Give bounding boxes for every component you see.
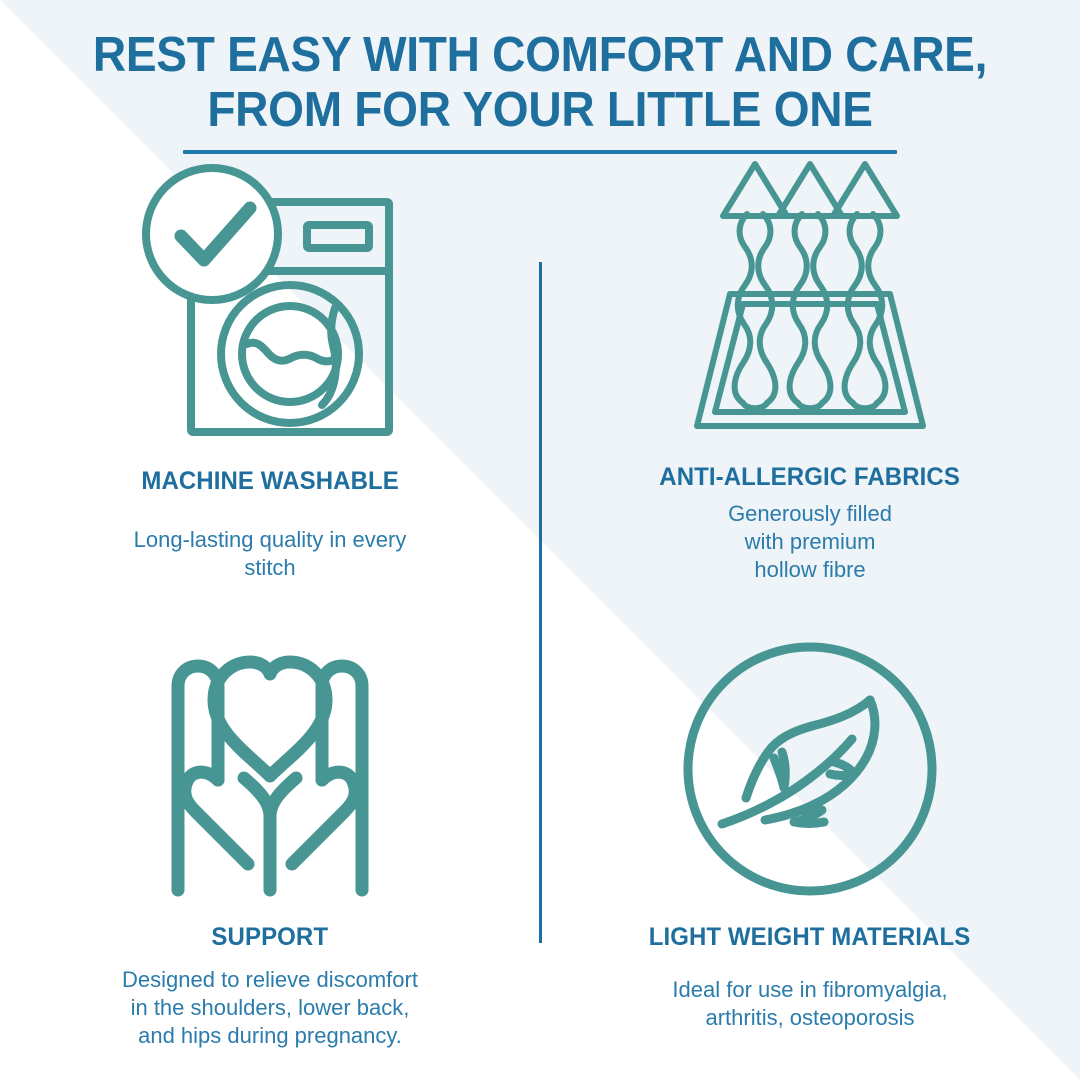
hands-holding-heart-icon (140, 628, 400, 900)
card-title-light-weight-materials: LIGHT WEIGHT MATERIALS (649, 924, 971, 952)
breathable-fabric-arrows-icon (685, 158, 935, 448)
feature-card-support: SUPPORT Designed to relieve discomfort i… (0, 628, 540, 1068)
feature-card-light-weight-materials: LIGHT WEIGHT MATERIALS Ideal for use in … (540, 628, 1080, 1068)
card-description-machine-washable: Long-lasting quality in every stitch (70, 526, 470, 582)
feature-card-anti-allergic-fabrics: ANTI-ALLERGIC FABRICS Generously filled … (540, 158, 1080, 628)
card-description-anti-allergic-fabrics: Generously filled with premium hollow fi… (645, 500, 975, 584)
card-title-machine-washable: MACHINE WASHABLE (141, 468, 399, 496)
card-description-support: Designed to relieve discomfort in the sh… (60, 966, 480, 1050)
poster-content: REST EASY WITH COMFORT AND CARE, FROM FO… (0, 0, 1080, 1080)
card-description-light-weight-materials: Ideal for use in fibromyalgia, arthritis… (600, 976, 1020, 1032)
page-title: REST EASY WITH COMFORT AND CARE, FROM FO… (32, 28, 1047, 138)
feather-in-circle-icon (682, 628, 938, 900)
card-title-anti-allergic-fabrics: ANTI-ALLERGIC FABRICS (660, 464, 961, 492)
vertical-column-divider (539, 262, 542, 943)
headline-block: REST EASY WITH COMFORT AND CARE, FROM FO… (0, 28, 1080, 154)
card-title-support: SUPPORT (212, 924, 329, 952)
feature-poster: REST EASY WITH COMFORT AND CARE, FROM FO… (0, 0, 1080, 1080)
feature-card-machine-washable: MACHINE WASHABLE Long-lasting quality in… (0, 158, 540, 628)
washing-machine-check-icon (139, 158, 401, 440)
title-underline-rule (183, 150, 897, 154)
